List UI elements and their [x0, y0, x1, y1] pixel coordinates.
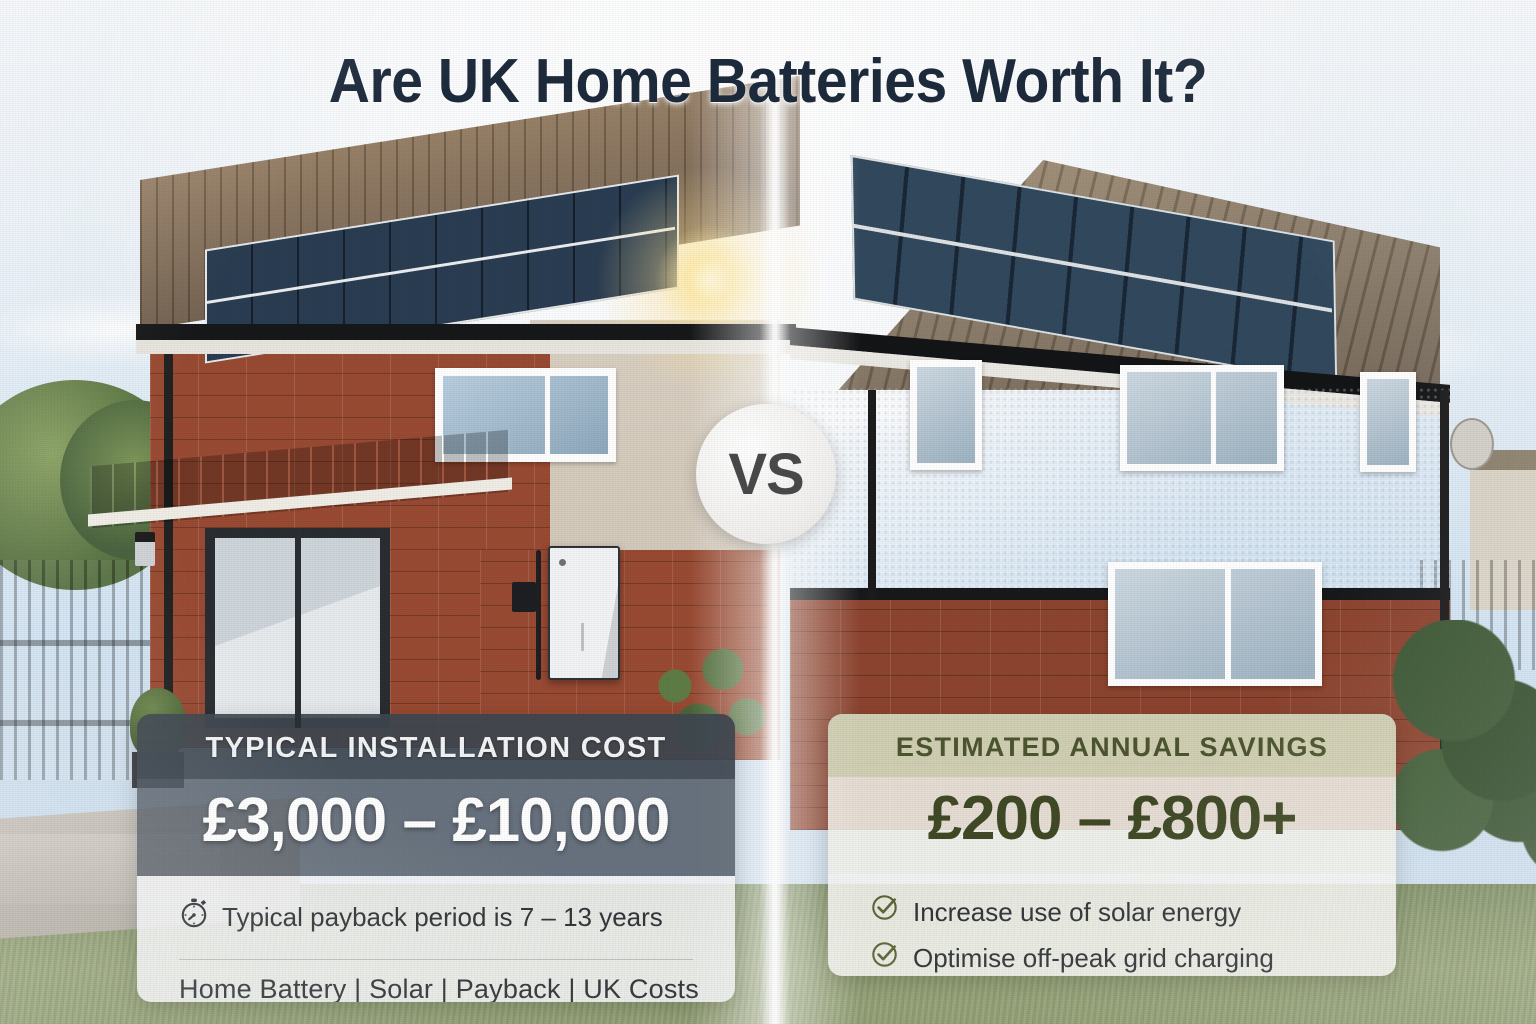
- vs-badge: VS: [696, 404, 836, 544]
- fence-rail: [0, 720, 150, 726]
- benefit-label: Increase use of solar energy: [913, 894, 1241, 932]
- benefit-row: Optimise off-peak grid charging: [828, 937, 1396, 976]
- home-battery-unit: [548, 546, 620, 680]
- check-circle-icon: [870, 892, 900, 933]
- upper-window: [910, 360, 982, 470]
- benefit-label: Optimise off-peak grid charging: [913, 940, 1274, 976]
- battery-isolator-box: [512, 582, 536, 612]
- check-circle-icon: [870, 939, 900, 976]
- page-title: Are UK Home Batteries Worth It?: [61, 46, 1474, 117]
- downpipe: [868, 390, 876, 600]
- upper-window: [1360, 372, 1416, 472]
- ground-floor-window: [1108, 562, 1322, 686]
- benefit-row: Increase use of solar energy: [828, 890, 1396, 937]
- installation-cost-header: TYPICAL INSTALLATION COST: [137, 714, 735, 779]
- infographic-canvas: VS Are UK Home Batteries Worth It? TYPIC…: [0, 0, 1536, 1024]
- wall-lamp: [135, 532, 155, 566]
- annual-savings-footer: Increase use of solar energy Optimise of…: [828, 874, 1396, 976]
- annual-savings-header: ESTIMATED ANNUAL SAVINGS: [828, 714, 1396, 777]
- stopwatch-icon: [179, 896, 209, 939]
- downpipe: [164, 354, 173, 734]
- annual-savings-value: £200 – £800+: [828, 777, 1396, 874]
- topic-tags: Home Battery | Solar | Payback | UK Cost…: [137, 974, 735, 1002]
- installation-cost-value: £3,000 – £10,000: [137, 779, 735, 876]
- installation-cost-footer: Typical payback period is 7 – 13 years H…: [137, 876, 735, 1002]
- garden-fence: [0, 560, 150, 780]
- annual-savings-card: ESTIMATED ANNUAL SAVINGS £200 – £800+ In…: [828, 714, 1396, 976]
- fence-rail: [0, 640, 150, 646]
- satellite-dish: [1450, 418, 1494, 470]
- card-divider: [179, 959, 693, 960]
- upper-window: [1120, 365, 1284, 471]
- battery-conduit: [536, 550, 541, 680]
- installation-cost-card: TYPICAL INSTALLATION COST £3,000 – £10,0…: [137, 714, 735, 1002]
- shrub: [1390, 620, 1536, 820]
- patio-door-mullion: [295, 528, 301, 728]
- payback-note-row: Typical payback period is 7 – 13 years: [137, 894, 735, 943]
- vs-badge-label: VS: [728, 441, 803, 508]
- payback-note-label: Typical payback period is 7 – 13 years: [222, 899, 663, 937]
